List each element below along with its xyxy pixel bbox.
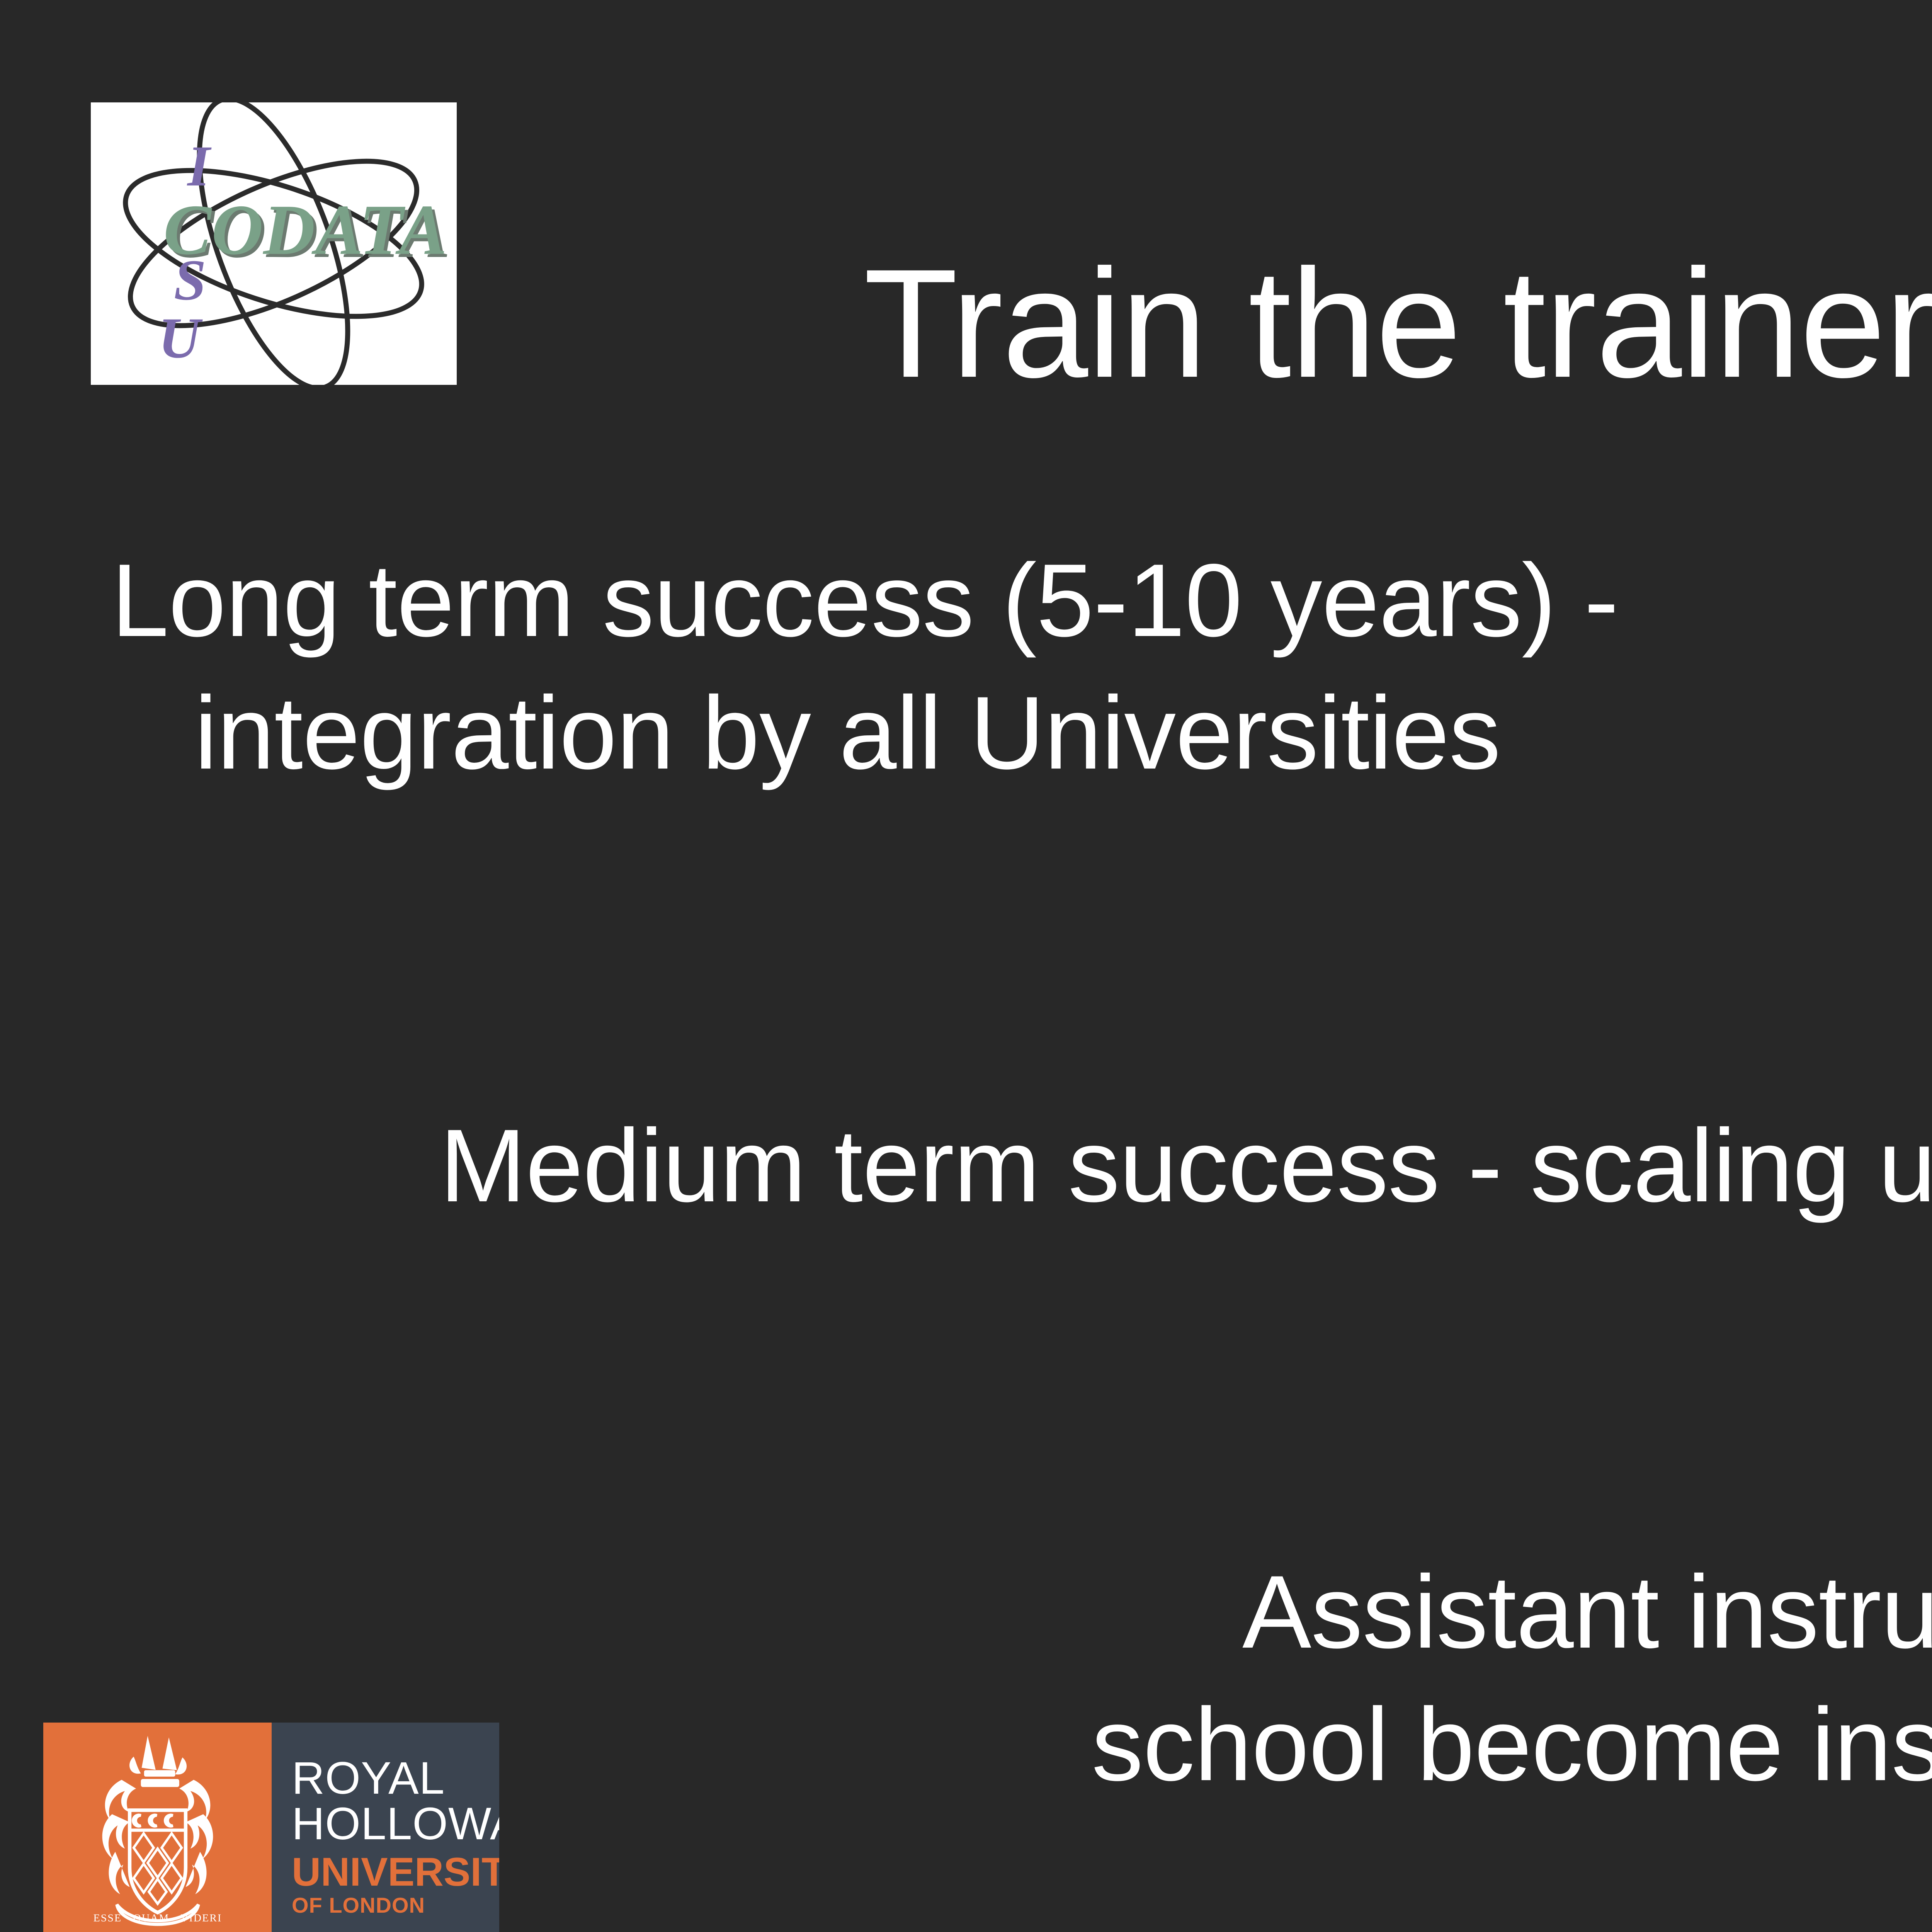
codata-letter-i: I xyxy=(187,134,212,198)
text-medium-term-line1: Medium term success - scaling up of scho… xyxy=(440,1107,1932,1223)
codata-letter-u: U xyxy=(158,306,203,370)
codata-wordmark: CODATA xyxy=(163,190,447,270)
rhul-crest-panel: ESSE · QUAM · VIDERI xyxy=(43,1723,272,1932)
text-long-term-line1: Long term success (5-10 years) - xyxy=(111,542,1618,658)
slide-canvas: I S U CODATA CODATA Train the trainers xyxy=(0,0,1932,1932)
rhul-line-of-london: OF LONDON xyxy=(292,1895,499,1916)
text-block-assistant-instructors: Assistant instructors in one school beco… xyxy=(1242,1546,1932,1811)
page-title: Train the trainers xyxy=(864,237,1932,410)
text-assistant-line1: Assistant instructors in one xyxy=(1242,1554,1932,1670)
royal-holloway-university-of-london-logo: ESSE · QUAM · VIDERI ROYAL HOLLOWAY UNIV… xyxy=(43,1723,499,1932)
codata-icsu-logo-graphic: I S U CODATA CODATA xyxy=(91,102,457,385)
rhul-coat-of-arms-icon: ESSE · QUAM · VIDERI xyxy=(68,1731,247,1932)
rhul-wordmark-panel: ROYAL HOLLOWAY UNIVERSITY OF LONDON xyxy=(272,1723,499,1932)
rhul-line-holloway: HOLLOWAY xyxy=(292,1801,499,1847)
rhul-motto: ESSE · QUAM · VIDERI xyxy=(93,1912,222,1924)
text-long-term-line2: integration by all Universities xyxy=(111,667,1889,799)
text-block-long-term: Long term success (5-10 years) - integra… xyxy=(111,534,1889,799)
rhul-line-university: UNIVERSITY xyxy=(292,1852,499,1892)
text-assistant-line2: school become instructors in next xyxy=(1092,1678,1932,1811)
codata-icsu-logo: I S U CODATA CODATA xyxy=(91,102,457,385)
rhul-line-royal: ROYAL xyxy=(292,1755,499,1801)
text-block-medium-term: Medium term success - scaling up of scho… xyxy=(440,1099,1932,1232)
